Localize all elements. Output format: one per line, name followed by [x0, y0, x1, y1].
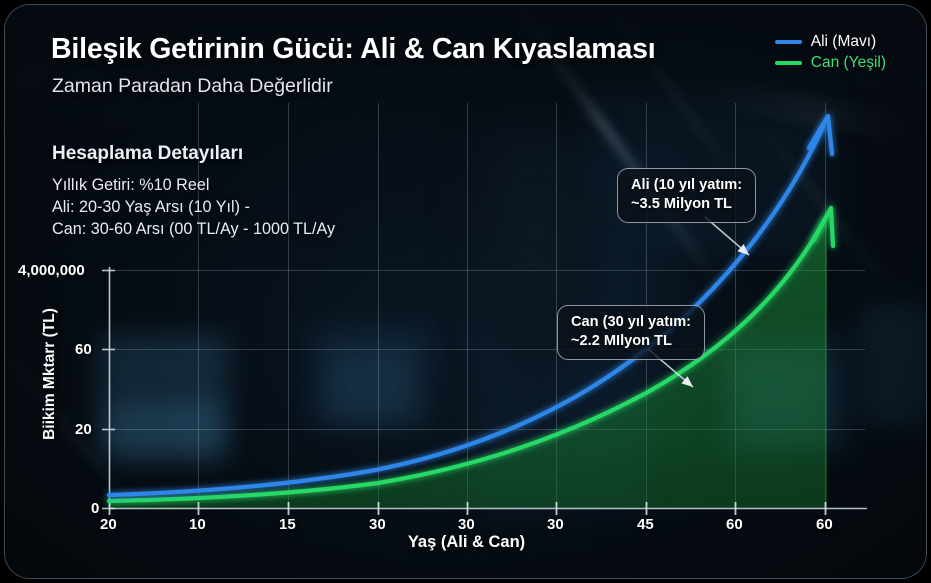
y-axis-title: Biikim Mktarr (TL) [41, 289, 59, 459]
info-panel-line: Ali: 20-30 Yaş Arsı (10 Yıl) - [52, 196, 335, 218]
y-tick-label: 20 [75, 421, 92, 438]
legend-label-can: Can (Yeşil) [811, 54, 886, 72]
ali-annotation-line2: ~3.5 Milyon TL [631, 195, 742, 214]
legend-item-ali[interactable]: Ali (Mavı) [775, 31, 886, 52]
info-panel-line: Can: 30-60 Arsı (00 TL/Ay - 1000 TL/Ay [52, 218, 335, 240]
x-tick-label: 10 [189, 516, 206, 533]
x-tick-label: 15 [279, 516, 296, 533]
ali-annotation-line1: Ali (10 yıl yatım: [631, 176, 742, 195]
x-tick-label: 60 [816, 516, 833, 533]
y-tick-label: 4,000,000 [18, 262, 85, 279]
chart-legend: Ali (Mavı) Can (Yeşil) [775, 31, 886, 73]
ali-annotation-box: Ali (10 yıl yatım: ~3.5 Milyon TL [617, 168, 756, 223]
legend-swatch-ali [775, 40, 802, 44]
page-title: Bileşik Getirinin Gücü: Ali & Can Kıyasl… [51, 33, 655, 66]
y-tick-label: 60 [75, 341, 92, 358]
calculation-details-panel: Hesaplama Detayıları Yıllık Getiri: %10 … [52, 143, 335, 240]
can-annotation-box: Can (30 yıl yatım: ~2.2 MIlyon TL [557, 305, 705, 360]
legend-swatch-can [775, 61, 802, 65]
x-tick-label: 30 [458, 516, 475, 533]
x-tick-label: 30 [369, 516, 386, 533]
can-annotation-line2: ~2.2 MIlyon TL [571, 332, 691, 351]
x-tick-label: 45 [637, 516, 654, 533]
x-tick-label: 20 [100, 516, 117, 533]
x-tick-label: 30 [547, 516, 564, 533]
can-annotation-line1: Can (30 yıl yatım: [571, 313, 691, 332]
legend-label-ali: Ali (Mavı) [811, 33, 876, 51]
x-tick-label: 60 [726, 516, 743, 533]
info-panel-line: Yıllık Getiri: %10 Reel [52, 174, 335, 196]
x-axis-title: Yaş (Ali & Can) [5, 533, 927, 552]
info-panel-title: Hesaplama Detayıları [52, 143, 335, 165]
page-subtitle: Zaman Paradan Daha Değerlidir [52, 75, 333, 98]
legend-item-can[interactable]: Can (Yeşil) [775, 52, 886, 73]
y-tick-label: 0 [91, 500, 99, 517]
chart-card: Bileşik Getirinin Gücü: Ali & Can Kıyasl… [4, 4, 927, 579]
y-axis-ticks [102, 271, 115, 509]
